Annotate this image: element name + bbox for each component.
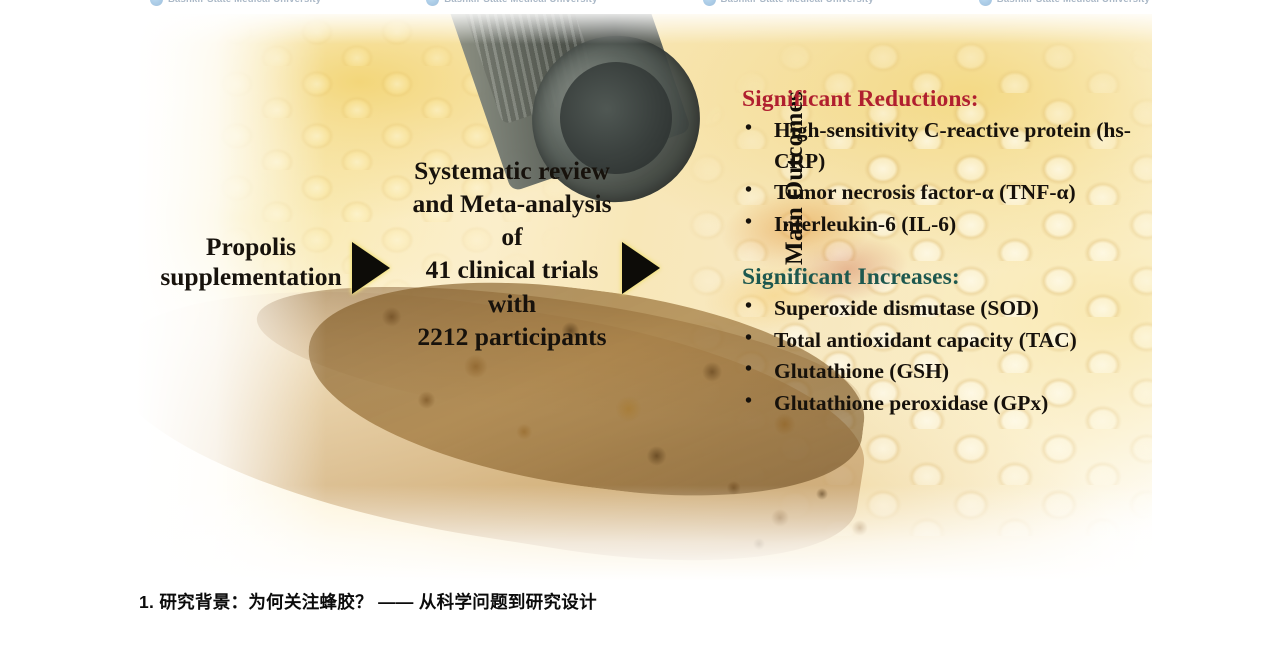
arrow-right-icon [622,242,660,294]
top-publisher-banner: Bashkir State Medical University Bashkir… [0,0,1281,14]
stage-label-methodology: Systematic review and Meta-analysis of 4… [388,154,636,353]
publisher-name: Bashkir State Medical University [721,0,874,5]
slide-caption: 1. 研究背景：为何关注蜂胶？ —— 从科学问题到研究设计 [139,589,597,614]
publisher-item: Bashkir State Medical University [426,0,597,6]
publisher-name: Bashkir State Medical University [997,0,1150,5]
list-item: High-sensitivity C-reactive protein (hs-… [742,115,1152,176]
results-panel: Significant Reductions: High-sensitivity… [742,86,1152,419]
graphical-abstract-image: Propolis supplementation Systematic revi… [136,14,1152,581]
publisher-item: Bashkir State Medical University [150,0,321,6]
slide-canvas: Bashkir State Medical University Bashkir… [0,0,1281,647]
publisher-name: Bashkir State Medical University [444,0,597,5]
list-item: Glutathione (GSH) [742,356,1152,387]
stage-label-propolis-supplementation: Propolis supplementation [140,232,362,291]
increases-list: Superoxide dismutase (SOD) Total antioxi… [742,293,1152,418]
list-item: Total antioxidant capacity (TAC) [742,325,1152,356]
publisher-name: Bashkir State Medical University [168,0,321,5]
list-item: Tumor necrosis factor-α (TNF-α) [742,177,1152,208]
reductions-list: High-sensitivity C-reactive protein (hs-… [742,115,1152,239]
arrow-right-icon [352,242,390,294]
publisher-item: Bashkir State Medical University [703,0,874,6]
publisher-item: Bashkir State Medical University [979,0,1150,6]
journal-logo-icon [703,0,716,6]
journal-logo-icon [426,0,439,6]
reductions-heading: Significant Reductions: [742,86,1152,113]
list-item: Interleukin-6 (IL-6) [742,209,1152,240]
journal-logo-icon [150,0,163,6]
fade-overlay-bottom [136,485,1152,581]
journal-logo-icon [979,0,992,6]
list-item: Superoxide dismutase (SOD) [742,293,1152,324]
section-gap [742,240,1152,264]
list-item: Glutathione peroxidase (GPx) [742,388,1152,419]
increases-heading: Significant Increases: [742,264,1152,291]
